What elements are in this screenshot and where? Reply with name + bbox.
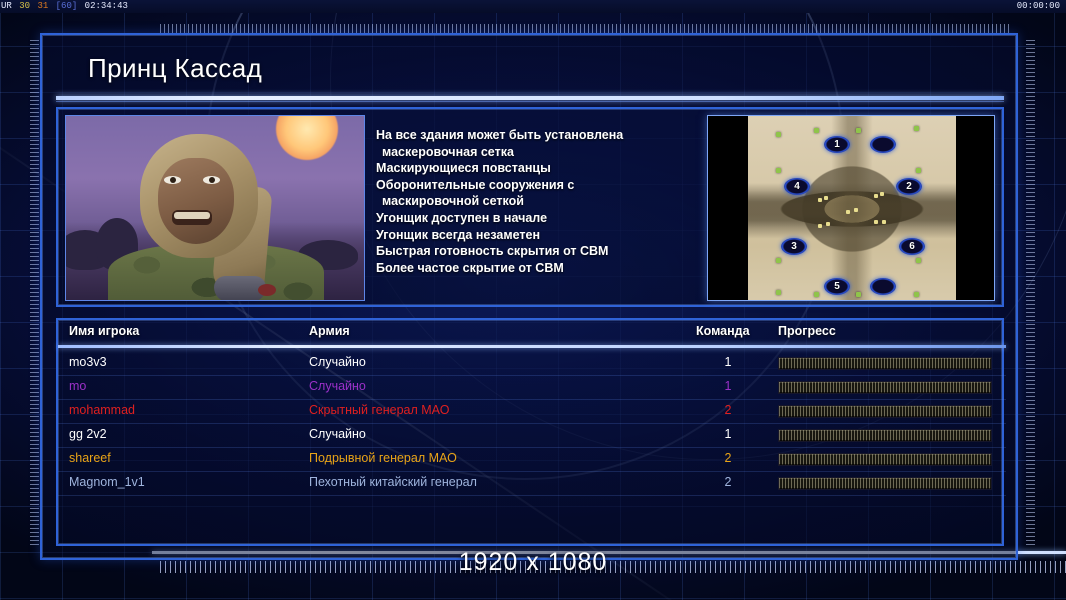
top-status-segment: 02:34:43 — [84, 0, 129, 13]
ability-line: Угонщик всегда незаметен — [376, 227, 676, 244]
map-supply-icon — [776, 258, 781, 263]
player-team: 1 — [713, 427, 743, 441]
resolution-overlay: 1920 x 1080 — [0, 548, 1066, 577]
map-supply-icon — [916, 258, 921, 263]
top-status-segment: [60] — [55, 0, 79, 13]
map-start-position-icon[interactable]: 2 — [896, 178, 922, 195]
column-header-progress: Прогресс — [778, 324, 836, 338]
player-army: Пехотный китайский генерал — [309, 475, 477, 489]
player-progress-fill — [779, 454, 991, 465]
general-info-panel: На все здания может быть установленамаск… — [56, 107, 1004, 307]
lobby-panel: Принц Кассад На все зд — [40, 33, 1018, 560]
player-name: gg 2v2 — [69, 427, 107, 441]
map-start-position-icon[interactable]: 6 — [899, 238, 925, 255]
general-ability-list: На все здания может быть установленамаск… — [376, 127, 676, 276]
map-tech-building-icon — [854, 208, 858, 212]
player-team: 2 — [713, 475, 743, 489]
player-progress-bar — [778, 453, 992, 466]
header-divider — [58, 345, 1006, 348]
player-team: 2 — [713, 451, 743, 465]
map-tech-building-icon — [824, 196, 828, 200]
player-army: Скрытный генерал МАО — [309, 403, 449, 417]
ability-line: Угонщик доступен в начале — [376, 210, 676, 227]
player-name: mo3v3 — [69, 355, 107, 369]
table-row[interactable]: shareefПодрывной генерал МАО2 — [58, 448, 1006, 472]
map-tech-building-icon — [882, 220, 886, 224]
map-start-position-icon[interactable]: 3 — [781, 238, 807, 255]
sun-glow — [276, 115, 338, 160]
page-title: Принц Кассад — [56, 41, 1004, 84]
player-progress-fill — [779, 478, 991, 489]
top-status-segment: UR — [0, 0, 13, 13]
top-status-segment: 31 — [36, 0, 49, 13]
map-supply-icon — [776, 132, 781, 137]
map-supply-icon — [776, 168, 781, 173]
top-status-clock: 00:00:00 — [1017, 0, 1060, 13]
ability-line: маскировочной сеткой — [376, 193, 676, 210]
player-team: 1 — [713, 379, 743, 393]
map-start-position-icon[interactable]: 4 — [784, 178, 810, 195]
player-army: Случайно — [309, 355, 366, 369]
player-name: mohammad — [69, 403, 135, 417]
table-row[interactable]: mohammadСкрытный генерал МАО2 — [58, 400, 1006, 424]
map-tech-building-icon — [874, 220, 878, 224]
map-start-position-icon[interactable]: 1 — [824, 136, 850, 153]
portrait-teeth — [174, 212, 210, 219]
map-tech-building-icon — [818, 224, 822, 228]
column-header-team: Команда — [696, 324, 750, 338]
map-tech-building-icon — [874, 194, 878, 198]
map-supply-icon — [814, 292, 819, 297]
column-header-army: Армия — [309, 324, 350, 338]
top-status-segment: 30 — [18, 0, 31, 13]
map-supply-icon — [814, 128, 819, 133]
table-row[interactable]: mo3v3Случайно1 — [58, 352, 1006, 376]
player-team: 2 — [713, 403, 743, 417]
map-start-position-icon[interactable]: 5 — [824, 278, 850, 295]
title-bar: Принц Кассад — [56, 41, 1004, 97]
map-supply-icon — [856, 128, 861, 133]
map-supply-icon — [916, 168, 921, 173]
player-progress-bar — [778, 405, 992, 418]
ruler-right — [1026, 40, 1035, 545]
ability-line: маскеровочная сетка — [376, 144, 676, 161]
map-tech-building-icon — [826, 222, 830, 226]
portrait-teapot — [214, 276, 266, 301]
ability-line: На все здания может быть установлена — [376, 127, 676, 144]
map-supply-icon — [914, 126, 919, 131]
player-table: Имя игрока Армия Команда Прогресс mo3v3С… — [56, 318, 1004, 546]
map-preview[interactable]: 142365 — [707, 115, 995, 301]
top-status-left: UR 30 31 [60] 02:34:43 — [0, 1, 129, 11]
map-supply-icon — [914, 292, 919, 297]
map-roads — [748, 116, 956, 301]
top-status-bar: UR 30 31 [60] 02:34:43 00:00:00 — [0, 0, 1066, 13]
player-name: Magnom_1v1 — [69, 475, 145, 489]
player-progress-bar — [778, 357, 992, 370]
ability-line: Быстрая готовность скрытия от СВМ — [376, 243, 676, 260]
row-divider — [58, 495, 1006, 496]
ruler-left — [30, 40, 39, 545]
player-progress-bar — [778, 477, 992, 490]
map-supply-icon — [776, 290, 781, 295]
table-row[interactable]: gg 2v2Случайно1 — [58, 424, 1006, 448]
player-progress-bar — [778, 381, 992, 394]
map-start-position-icon[interactable] — [870, 278, 896, 295]
map-tech-building-icon — [818, 198, 822, 202]
player-progress-fill — [779, 406, 991, 417]
game-lobby-screen: UR 30 31 [60] 02:34:43 00:00:00 Принц Ка… — [0, 0, 1066, 600]
map-supply-icon — [856, 292, 861, 297]
ruler-top — [160, 24, 1010, 33]
general-portrait — [65, 115, 365, 301]
map-start-position-icon[interactable] — [870, 136, 896, 153]
table-row[interactable]: Magnom_1v1Пехотный китайский генерал2 — [58, 472, 1006, 496]
player-army: Случайно — [309, 379, 366, 393]
map-terrain: 142365 — [748, 116, 956, 301]
column-header-player: Имя игрока — [69, 324, 139, 338]
player-progress-fill — [779, 358, 991, 369]
player-army: Подрывной генерал МАО — [309, 451, 457, 465]
ability-line: Оборонительные сооружения с — [376, 177, 676, 194]
player-name: mo — [69, 379, 86, 393]
portrait-eye-left — [164, 176, 181, 184]
player-table-header: Имя игрока Армия Команда Прогресс — [58, 324, 1006, 346]
ability-line: Более частое скрытие от СВМ — [376, 260, 676, 277]
player-name: shareef — [69, 451, 111, 465]
player-army: Случайно — [309, 427, 366, 441]
player-progress-fill — [779, 382, 991, 393]
table-row[interactable]: moСлучайно1 — [58, 376, 1006, 400]
player-progress-bar — [778, 429, 992, 442]
title-underline — [56, 96, 1004, 100]
portrait-eye-right — [203, 176, 220, 184]
player-team: 1 — [713, 355, 743, 369]
player-progress-fill — [779, 430, 991, 441]
title-underline-secondary — [56, 101, 1004, 102]
map-tech-building-icon — [880, 192, 884, 196]
ability-line: Маскирующиеся повстанцы — [376, 160, 676, 177]
map-tech-building-icon — [846, 210, 850, 214]
portrait-face — [158, 158, 234, 244]
